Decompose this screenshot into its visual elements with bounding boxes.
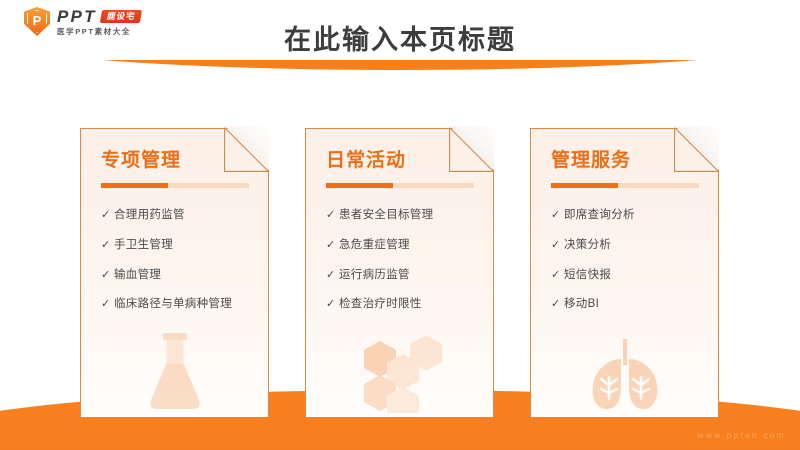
site-watermark: www.pptan.com (697, 430, 786, 440)
list-item-label: 临床路径与单病种管理 (114, 296, 253, 314)
list-item-label: 检查治疗时限性 (339, 296, 478, 314)
list-item[interactable]: ✓ 临床路径与单病种管理 (101, 296, 253, 314)
card-title: 日常活动 (326, 151, 493, 170)
check-icon: ✓ (101, 237, 114, 254)
check-icon: ✓ (551, 296, 564, 313)
list-item[interactable]: ✓ 合理用药监管 (101, 207, 253, 225)
list-item-label: 患者安全目标管理 (339, 207, 478, 225)
list-item[interactable]: ✓ 运行病历监管 (326, 267, 478, 285)
check-icon: ✓ (326, 237, 339, 254)
card-special-management[interactable]: 专项管理 ✓ 合理用药监管 ✓ 手卫生管理 ✓ 输血管理 (80, 128, 269, 418)
list-item[interactable]: ✓ 短信快报 (551, 267, 703, 285)
card-underline (326, 183, 474, 188)
list-item-label: 输血管理 (114, 267, 253, 285)
card-underline (551, 183, 699, 188)
card-body: 管理服务 ✓ 即席查询分析 ✓ 决策分析 ✓ 短信快报 (531, 129, 718, 314)
card-title: 管理服务 (551, 151, 718, 170)
list-item-label: 合理用药监管 (114, 207, 253, 225)
list-item[interactable]: ✓ 移动BI (551, 296, 703, 314)
list-item-label: 即席查询分析 (564, 207, 703, 225)
card-daily-activities[interactable]: 日常活动 ✓ 患者安全目标管理 ✓ 急危重症管理 ✓ 运行病历监管 (305, 128, 494, 418)
check-icon: ✓ (326, 296, 339, 313)
lungs-icon (531, 333, 718, 413)
list-item[interactable]: ✓ 检查治疗时限性 (326, 296, 478, 314)
card-item-list: ✓ 患者安全目标管理 ✓ 急危重症管理 ✓ 运行病历监管 ✓ 检查治疗时限性 (326, 207, 493, 314)
card-body: 日常活动 ✓ 患者安全目标管理 ✓ 急危重症管理 ✓ 运行病历监管 (306, 129, 493, 314)
page-title: 在此输入本页标题 (0, 18, 800, 57)
card-item-list: ✓ 即席查询分析 ✓ 决策分析 ✓ 短信快报 ✓ 移动BI (551, 207, 718, 314)
list-item[interactable]: ✓ 输血管理 (101, 267, 253, 285)
list-item[interactable]: ✓ 急危重症管理 (326, 237, 478, 255)
list-item-label: 急危重症管理 (339, 237, 478, 255)
check-icon: ✓ (551, 237, 564, 254)
check-icon: ✓ (551, 207, 564, 224)
check-icon: ✓ (326, 267, 339, 284)
check-icon: ✓ (326, 207, 339, 224)
card-management-services[interactable]: 管理服务 ✓ 即席查询分析 ✓ 决策分析 ✓ 短信快报 (530, 128, 719, 418)
list-item[interactable]: ✓ 患者安全目标管理 (326, 207, 478, 225)
card-title: 专项管理 (101, 151, 268, 170)
cards-container: 专项管理 ✓ 合理用药监管 ✓ 手卫生管理 ✓ 输血管理 (0, 0, 800, 450)
list-item[interactable]: ✓ 手卫生管理 (101, 237, 253, 255)
check-icon: ✓ (551, 267, 564, 284)
list-item-label: 决策分析 (564, 237, 703, 255)
card-underline (101, 183, 249, 188)
list-item-label: 运行病历监管 (339, 267, 478, 285)
flask-icon (81, 329, 268, 413)
check-icon: ✓ (101, 296, 114, 313)
slide-canvas: P PPT 鹿设宅 医学PPT素材大全 在此输入本页标题 专项管理 ✓ 合理用药… (0, 0, 800, 450)
list-item-label: 移动BI (564, 296, 703, 314)
list-item-label: 手卫生管理 (114, 237, 253, 255)
list-item[interactable]: ✓ 决策分析 (551, 237, 703, 255)
check-icon: ✓ (101, 267, 114, 284)
list-item[interactable]: ✓ 即席查询分析 (551, 207, 703, 225)
molecule-hexagon-icon (306, 331, 493, 413)
card-body: 专项管理 ✓ 合理用药监管 ✓ 手卫生管理 ✓ 输血管理 (81, 129, 268, 314)
list-item-label: 短信快报 (564, 267, 703, 285)
card-item-list: ✓ 合理用药监管 ✓ 手卫生管理 ✓ 输血管理 ✓ 临床路径与单病种管理 (101, 207, 268, 314)
check-icon: ✓ (101, 207, 114, 224)
